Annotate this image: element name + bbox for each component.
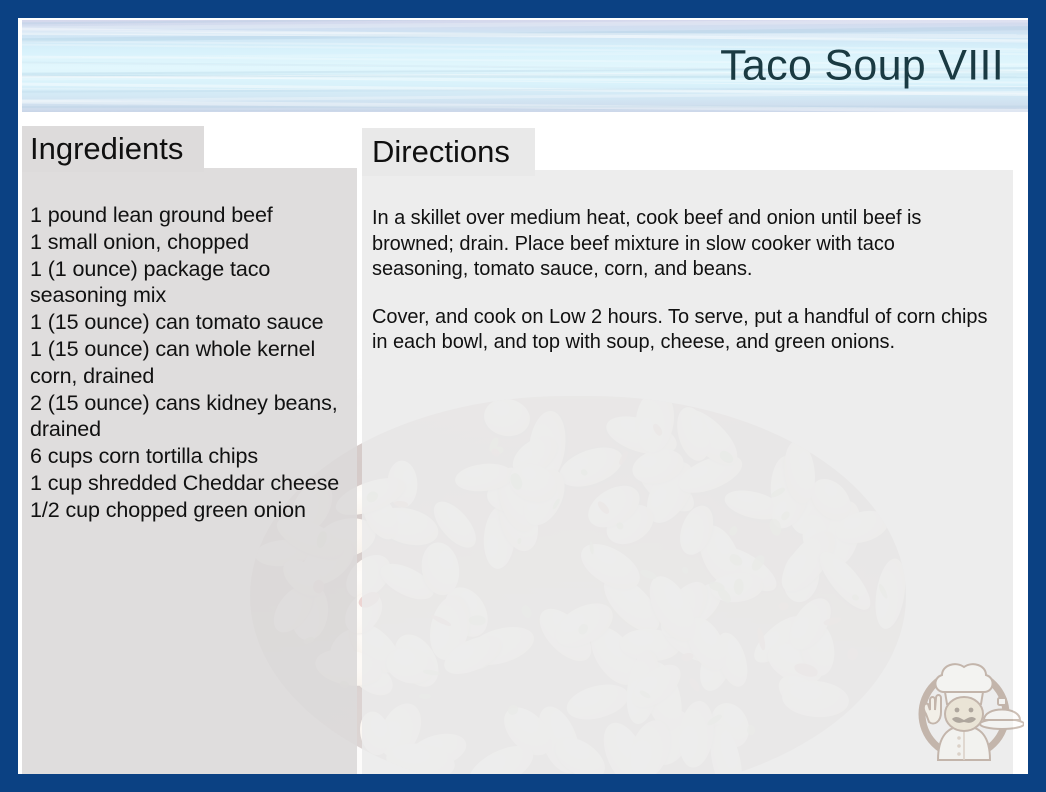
ingredient-item: 1/2 cup chopped green onion bbox=[30, 497, 347, 524]
ingredient-item: 1 small onion, chopped bbox=[30, 229, 347, 256]
ingredient-item: 1 cup shredded Cheddar cheese bbox=[30, 470, 347, 497]
ingredients-list: 1 pound lean ground beef1 small onion, c… bbox=[30, 202, 347, 524]
ingredient-item: 1 (15 ounce) can whole kernel corn, drai… bbox=[30, 336, 347, 390]
direction-paragraph: Cover, and cook on Low 2 hours. To serve… bbox=[372, 305, 995, 356]
ingredients-heading-tab: Ingredients bbox=[22, 126, 204, 172]
chef-mascot-logo bbox=[904, 648, 1024, 766]
ingredient-item: 2 (15 ounce) cans kidney beans, drained bbox=[30, 390, 347, 444]
ingredient-item: 6 cups corn tortilla chips bbox=[30, 443, 347, 470]
ingredient-item: 1 (15 ounce) can tomato sauce bbox=[30, 309, 347, 336]
page-title: Taco Soup VIII bbox=[720, 42, 1004, 91]
recipe-card: Taco Soup VIII Ingredients 1 pound lean … bbox=[0, 0, 1046, 792]
title-banner: Taco Soup VIII bbox=[22, 20, 1028, 112]
ingredient-item: 1 pound lean ground beef bbox=[30, 202, 347, 229]
direction-paragraph: In a skillet over medium heat, cook beef… bbox=[372, 206, 995, 283]
ingredient-item: 1 (1 ounce) package taco seasoning mix bbox=[30, 256, 347, 310]
directions-heading-label: Directions bbox=[372, 134, 510, 170]
directions-body: In a skillet over medium heat, cook beef… bbox=[372, 206, 995, 356]
banner-streak bbox=[22, 105, 1028, 107]
directions-heading-tab: Directions bbox=[362, 128, 535, 176]
ingredients-heading-label: Ingredients bbox=[30, 131, 183, 167]
ingredients-panel: 1 pound lean ground beef1 small onion, c… bbox=[22, 168, 357, 774]
